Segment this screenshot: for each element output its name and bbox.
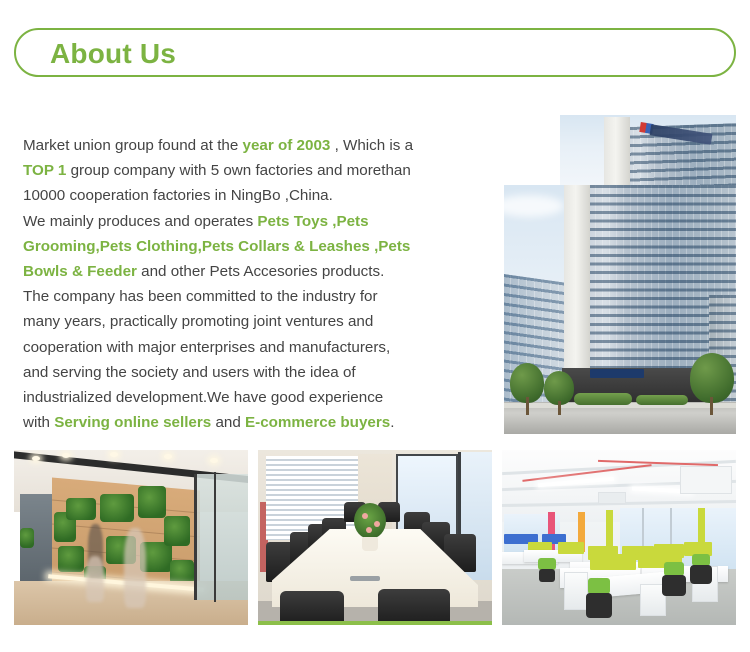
about-text-line: We mainly produces and operates Pets Toy… <box>23 209 475 234</box>
about-text-line: with Serving online sellers and E-commer… <box>23 410 475 435</box>
office-chair <box>690 554 712 584</box>
meeting-table-plant <box>354 503 386 539</box>
office-chair <box>538 558 556 582</box>
about-text-line: TOP 1 group company with 5 own factories… <box>23 158 475 183</box>
about-text-line: Grooming,Pets Clothing,Pets Collars & Le… <box>23 234 475 259</box>
about-text-line: many years, practically promoting joint … <box>23 309 475 334</box>
about-text-segment: The company has been committed to the in… <box>23 288 378 305</box>
conference-meeting-room-photo <box>258 450 492 625</box>
about-text-segment: and <box>211 414 245 431</box>
office-lobby-green-wall-photo <box>14 450 248 625</box>
about-text-line: The company has been committed to the in… <box>23 284 475 309</box>
about-text-highlight: Grooming,Pets Clothing,Pets Collars & Le… <box>23 238 410 255</box>
company-headquarters-building-spire <box>560 115 736 187</box>
about-text-highlight: Pets Toys ,Pets <box>257 213 368 230</box>
about-text-highlight: Serving online sellers <box>54 414 211 431</box>
about-us-page: About Us Market union group found at the… <box>0 0 750 652</box>
about-text-segment: group company with 5 own factories and m… <box>66 162 410 179</box>
about-text-highlight: year of 2003 <box>243 137 331 154</box>
section-header-frame: About Us <box>14 28 736 77</box>
about-text-segment: cooperation with major enterprises and m… <box>23 339 390 356</box>
about-text-segment: and other Pets Accesories products. <box>137 263 384 280</box>
about-text-line: 10000 cooperation factories in NingBo ,C… <box>23 183 475 208</box>
about-text-segment: with <box>23 414 54 431</box>
company-headquarters-building-photo <box>504 185 736 434</box>
about-description-text: Market union group found at the year of … <box>23 133 475 435</box>
about-text-segment: 10000 cooperation factories in NingBo ,C… <box>23 187 333 204</box>
about-text-segment: industrialized development.We have good … <box>23 389 383 406</box>
about-text-segment: Market union group found at the <box>23 137 243 154</box>
meeting-photo-green-strip <box>258 621 492 625</box>
office-chair <box>586 578 612 618</box>
about-text-line: and serving the society and users with t… <box>23 360 475 385</box>
about-text-line: industrialized development.We have good … <box>23 385 475 410</box>
about-text-segment: many years, practically promoting joint … <box>23 313 373 330</box>
about-text-segment: and serving the society and users with t… <box>23 364 356 381</box>
about-text-segment: We mainly produces and operates <box>23 213 257 230</box>
about-text-highlight: E-commerce buyers <box>245 414 390 431</box>
about-text-line: Bowls & Feeder and other Pets Accesories… <box>23 259 475 284</box>
about-text-highlight: Bowls & Feeder <box>23 263 137 280</box>
about-text-segment: , Which is a <box>330 137 413 154</box>
about-text-segment: . <box>390 414 394 431</box>
page-title: About Us <box>50 38 176 70</box>
open-plan-office-workspace-photo <box>502 450 736 625</box>
about-text-highlight: TOP 1 <box>23 162 66 179</box>
lobby-glass-door <box>194 474 248 600</box>
office-chair <box>662 562 686 596</box>
about-text-line: Market union group found at the year of … <box>23 133 475 158</box>
building-entrance-sign <box>590 369 644 378</box>
about-text-line: cooperation with major enterprises and m… <box>23 335 475 360</box>
